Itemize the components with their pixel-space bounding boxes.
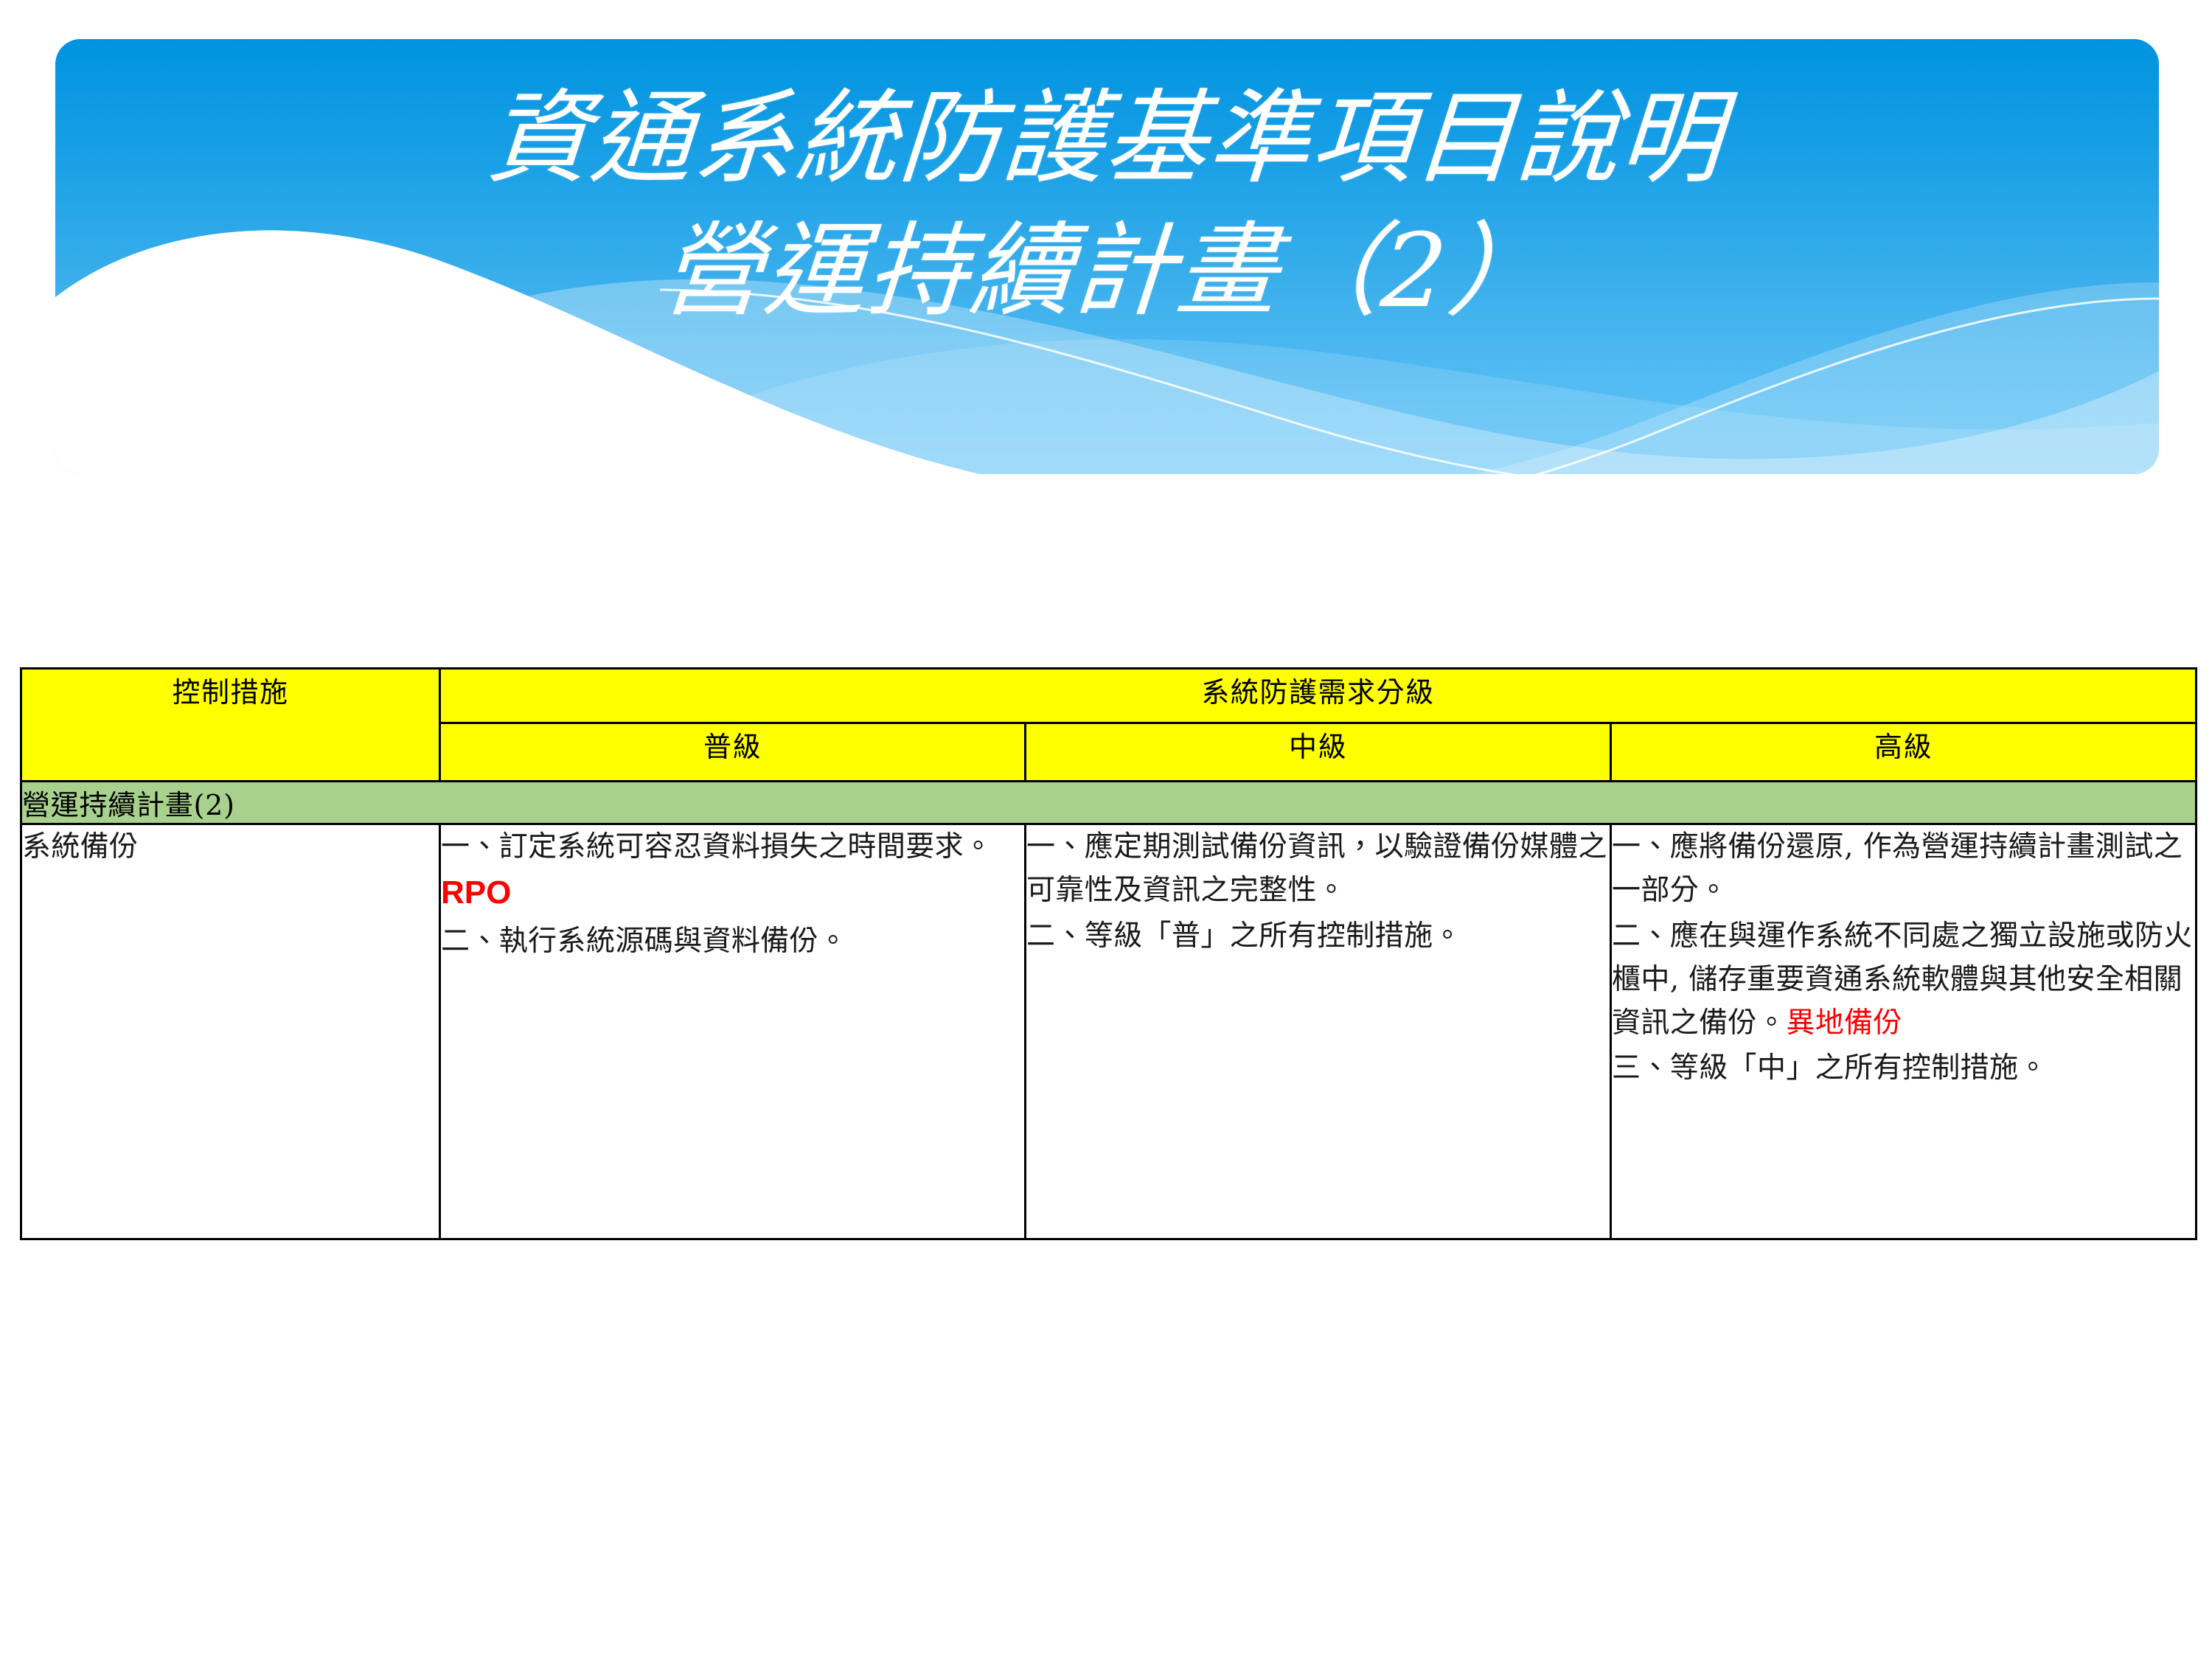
header-level-zhong: 中級 — [1026, 723, 1611, 782]
zhong-item-2: 二、等級「普」之所有控制措施。 — [1026, 914, 1610, 958]
cell-measure-name: 系統備份 — [21, 824, 440, 1239]
gao-item-3: 三、等級「中」之所有控制措施。 — [1612, 1046, 2195, 1090]
pu-annotation-rpo: RPO — [441, 874, 511, 911]
table-row: 系統備份 一、訂定系統可容忍資料損失之時間要求。RPO 二、執行系統源碼與資料備… — [21, 824, 2197, 1239]
measure-name-system-backup: 系統備份 — [22, 830, 139, 863]
title-banner: 資通系統防護基準項目說明 營運持續計畫（2） — [55, 39, 2159, 474]
cell-level-pu: 一、訂定系統可容忍資料損失之時間要求。RPO 二、執行系統源碼與資料備份。 — [440, 824, 1026, 1239]
gao-item-1: 一、應將備份還原, 作為營運持續計畫測試之一部分。 — [1612, 825, 2195, 913]
protection-requirements-table: 控制措施 系統防護需求分級 普級 中級 高級 營運持續計畫(2) 系統備份 一、… — [20, 667, 2197, 1240]
cell-level-gao: 一、應將備份還原, 作為營運持續計畫測試之一部分。 二、應在與運作系統不同處之獨… — [1611, 824, 2197, 1239]
gao-item-2: 二、應在與運作系統不同處之獨立設施或防火櫃中, 儲存重要資通系統軟體與其他安全相… — [1612, 914, 2195, 1046]
pu-item-1: 一、訂定系統可容忍資料損失之時間要求。RPO — [441, 825, 1024, 918]
cell-level-zhong: 一、應定期測試備份資訊，以驗證備份媒體之可靠性及資訊之完整性。 二、等級「普」之… — [1026, 824, 1611, 1239]
slide-title: 資通系統防護基準項目說明 營運持續計畫（2） — [55, 39, 2159, 322]
header-protection-level-group: 系統防護需求分級 — [440, 669, 2197, 723]
gao-annotation-offsite-backup: 異地備份 — [1786, 1006, 1902, 1040]
header-level-pu: 普級 — [440, 723, 1026, 782]
section-label-bcp: 營運持續計畫(2) — [21, 782, 2197, 824]
slide-title-line-2: 營運持續計畫（2） — [55, 189, 2159, 322]
slide-title-line-1: 資通系統防護基準項目說明 — [55, 39, 2159, 189]
gao-item-2-text: 二、應在與運作系統不同處之獨立設施或防火櫃中, 儲存重要資通系統軟體與其他安全相… — [1612, 919, 2193, 1040]
pu-item-2: 二、執行系統源碼與資料備份。 — [441, 919, 1024, 963]
header-control-measure: 控制措施 — [21, 669, 440, 782]
header-level-gao: 高級 — [1611, 723, 2197, 782]
zhong-item-1: 一、應定期測試備份資訊，以驗證備份媒體之可靠性及資訊之完整性。 — [1026, 825, 1610, 913]
table-section-row: 營運持續計畫(2) — [21, 782, 2197, 824]
table-header-row-group: 控制措施 系統防護需求分級 — [21, 669, 2197, 723]
pu-item-1-text: 一、訂定系統可容忍資料損失之時間要求。 — [441, 830, 992, 863]
